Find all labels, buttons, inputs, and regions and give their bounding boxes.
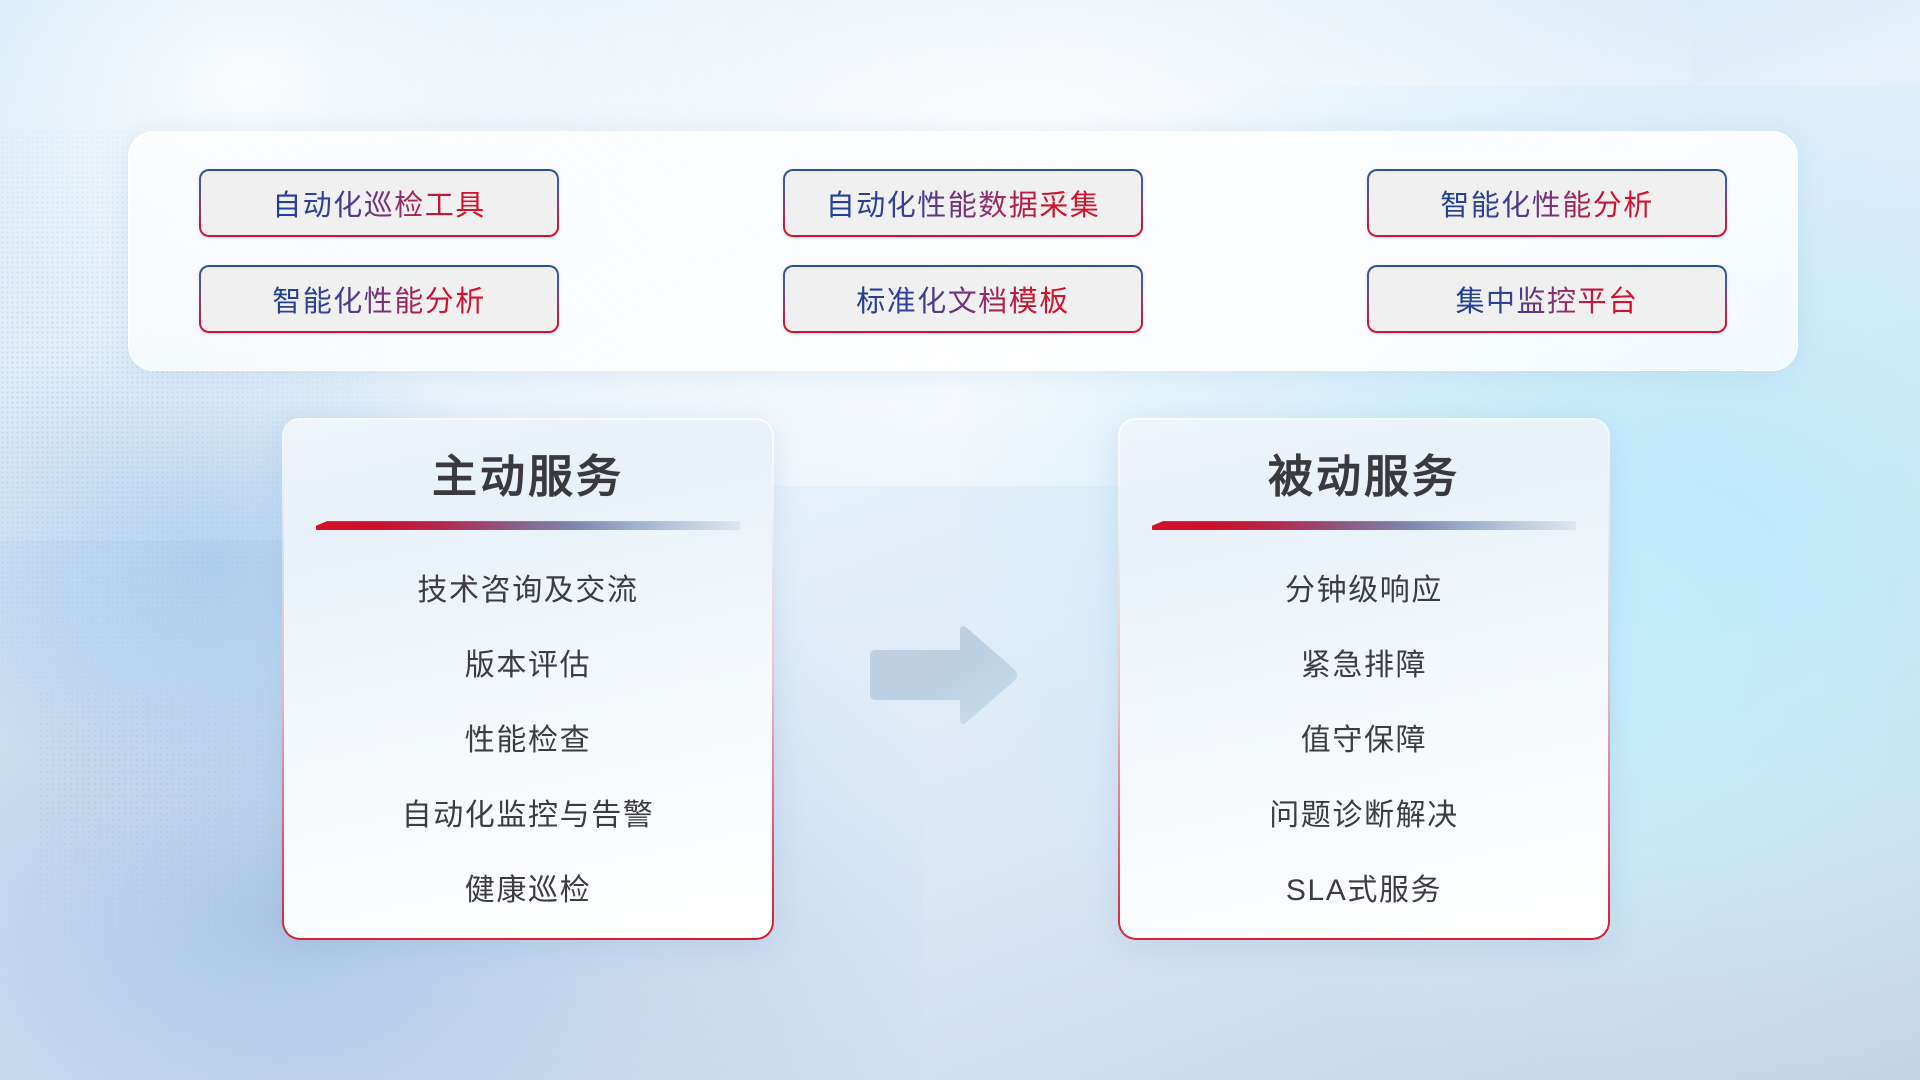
list-item: SLA式服务 [1286,862,1442,920]
capability-tag-intelligent-performance-analysis-bottom[interactable]: 智能化性能分析 [199,265,559,333]
capability-tag-surface: 集中监控平台 [1369,267,1725,331]
list-item: 技术咨询及交流 [417,562,638,620]
capability-tag-label: 标准化文档模板 [856,278,1070,320]
service-card-divider [1152,521,1576,530]
capability-tag-intelligent-performance-analysis-top[interactable]: 智能化性能分析 [1367,169,1727,237]
capability-tags-panel: 自动化巡检工具 自动化性能数据采集 智能化性能分析 智能化性能分析 标准化文档模… [128,131,1798,371]
capability-tag-row-1: 自动化巡检工具 自动化性能数据采集 智能化性能分析 [199,169,1727,237]
list-item: 健康巡检 [465,862,591,920]
capability-tag-surface: 智能化性能分析 [201,267,557,331]
list-item: 紧急排障 [1301,637,1427,695]
list-item: 版本评估 [465,637,591,695]
service-card-surface: 主动服务 技术咨询及交流 版本评估 性能检查 自动化监控与告警 健康巡检 [284,420,772,938]
capability-tag-surface: 智能化性能分析 [1369,171,1725,235]
capability-tag-standardized-document-template[interactable]: 标准化文档模板 [783,265,1143,333]
service-card-passive[interactable]: 被动服务 分钟级响应 紧急排障 值守保障 问题诊断解决 SLA式服务 [1118,418,1610,940]
service-card-divider [316,521,740,530]
capability-tag-surface: 自动化巡检工具 [201,171,557,235]
capability-tag-automated-inspection-tool[interactable]: 自动化巡检工具 [199,169,559,237]
list-item: 分钟级响应 [1285,562,1443,620]
capability-tag-label: 自动化巡检工具 [272,182,486,224]
list-item: 自动化监控与告警 [402,787,655,845]
list-item: 值守保障 [1301,712,1427,770]
service-card-surface: 被动服务 分钟级响应 紧急排障 值守保障 问题诊断解决 SLA式服务 [1120,420,1608,938]
capability-tag-surface: 自动化性能数据采集 [785,171,1141,235]
capability-tag-label: 智能化性能分析 [272,278,486,320]
right-arrow-icon [862,620,1022,730]
capability-tag-centralized-monitoring-platform[interactable]: 集中监控平台 [1367,265,1727,333]
service-card-title: 主动服务 [432,450,624,503]
service-card-list: 技术咨询及交流 版本评估 性能检查 自动化监控与告警 健康巡检 [284,562,772,920]
service-card-list: 分钟级响应 紧急排障 值守保障 问题诊断解决 SLA式服务 [1120,562,1608,920]
list-item: 问题诊断解决 [1269,787,1459,845]
capability-tag-label: 自动化性能数据采集 [826,182,1101,224]
capability-tag-automated-performance-data-collection[interactable]: 自动化性能数据采集 [783,169,1143,237]
list-item: 性能检查 [465,712,591,770]
capability-tag-row-2: 智能化性能分析 标准化文档模板 集中监控平台 [199,265,1727,333]
service-card-title: 被动服务 [1268,450,1460,503]
capability-tag-surface: 标准化文档模板 [785,267,1141,331]
capability-tag-label: 集中监控平台 [1455,278,1638,320]
service-card-active[interactable]: 主动服务 技术咨询及交流 版本评估 性能检查 自动化监控与告警 健康巡检 [282,418,774,940]
capability-tag-label: 智能化性能分析 [1440,182,1654,224]
